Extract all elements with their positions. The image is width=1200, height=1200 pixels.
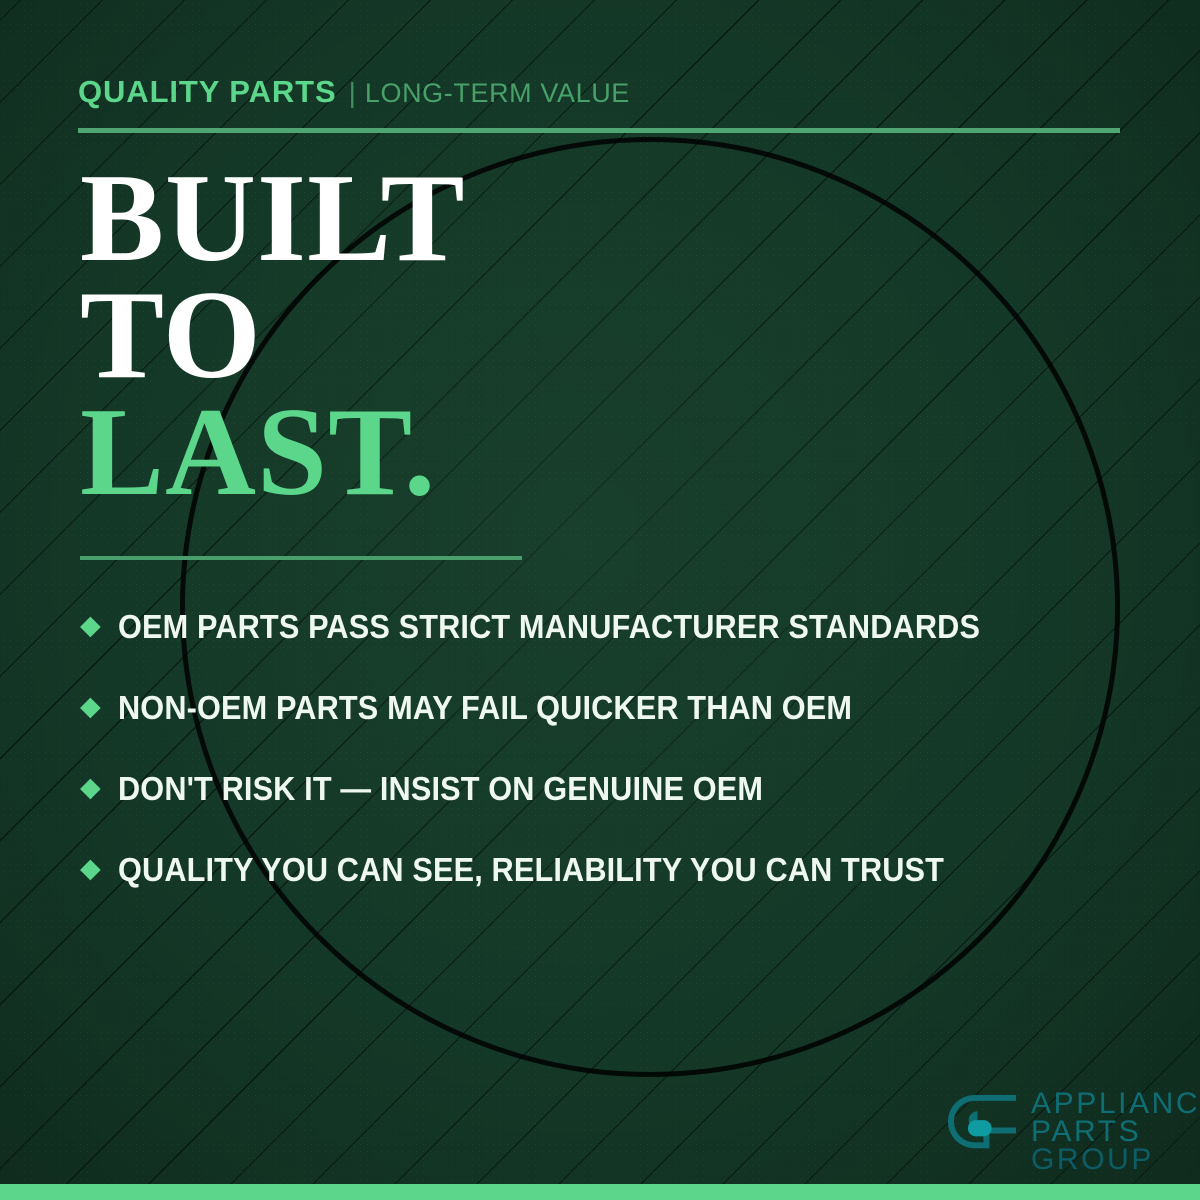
diamond-bullet-icon: ◆ xyxy=(80,774,101,801)
appliance-parts-group-g-icon xyxy=(945,1092,1019,1166)
benefits-list: ◆ OEM PARTS PASS STRICT MANUFACTURER STA… xyxy=(80,586,1170,910)
list-item: ◆ DON'T RISK IT — INSIST ON GENUINE OEM xyxy=(80,748,1170,829)
eyebrow-title: QUALITY PARTS xyxy=(78,74,337,110)
eyebrow-header: QUALITY PARTS | LONG-TERM VALUE xyxy=(78,74,630,110)
list-item-label: QUALITY YOU CAN SEE, RELIABILITY YOU CAN… xyxy=(118,851,944,889)
list-item-label: DON'T RISK IT — INSIST ON GENUINE OEM xyxy=(118,770,763,808)
diamond-bullet-icon: ◆ xyxy=(80,612,101,639)
headline-line-1: BUILT xyxy=(80,160,780,277)
list-item: ◆ OEM PARTS PASS STRICT MANUFACTURER STA… xyxy=(80,586,1170,667)
brand-wordmark: APPLIANCE PARTS GROUP xyxy=(1031,1088,1200,1175)
bottom-accent-bar xyxy=(0,1184,1200,1200)
diamond-bullet-icon: ◆ xyxy=(80,855,101,882)
header-divider-rule xyxy=(78,128,1120,133)
headline-divider-rule xyxy=(80,556,522,560)
list-item-label: OEM PARTS PASS STRICT MANUFACTURER STAND… xyxy=(118,608,980,646)
list-item-label: NON-OEM PARTS MAY FAIL QUICKER THAN OEM xyxy=(118,689,852,727)
headline-line-3: LAST. xyxy=(80,394,780,511)
list-item: ◆ QUALITY YOU CAN SEE, RELIABILITY YOU C… xyxy=(80,829,1170,910)
poster-content: QUALITY PARTS | LONG-TERM VALUE BUILT TO… xyxy=(0,0,1200,1200)
list-item: ◆ NON-OEM PARTS MAY FAIL QUICKER THAN OE… xyxy=(80,667,1170,748)
eyebrow-subtitle: LONG-TERM VALUE xyxy=(365,78,630,109)
headline-line-2: TO xyxy=(80,277,780,394)
brand-line-1: APPLIANCE xyxy=(1031,1090,1200,1118)
poster-canvas: QUALITY PARTS | LONG-TERM VALUE BUILT TO… xyxy=(0,0,1200,1200)
headline-block: BUILT TO LAST. xyxy=(80,160,780,512)
eyebrow-separator: | xyxy=(337,77,365,109)
brand-logo: APPLIANCE PARTS GROUP xyxy=(945,1088,1200,1175)
brand-line-3: GROUP xyxy=(1031,1146,1200,1174)
brand-line-2: PARTS xyxy=(1031,1118,1200,1146)
diamond-bullet-icon: ◆ xyxy=(80,693,101,720)
